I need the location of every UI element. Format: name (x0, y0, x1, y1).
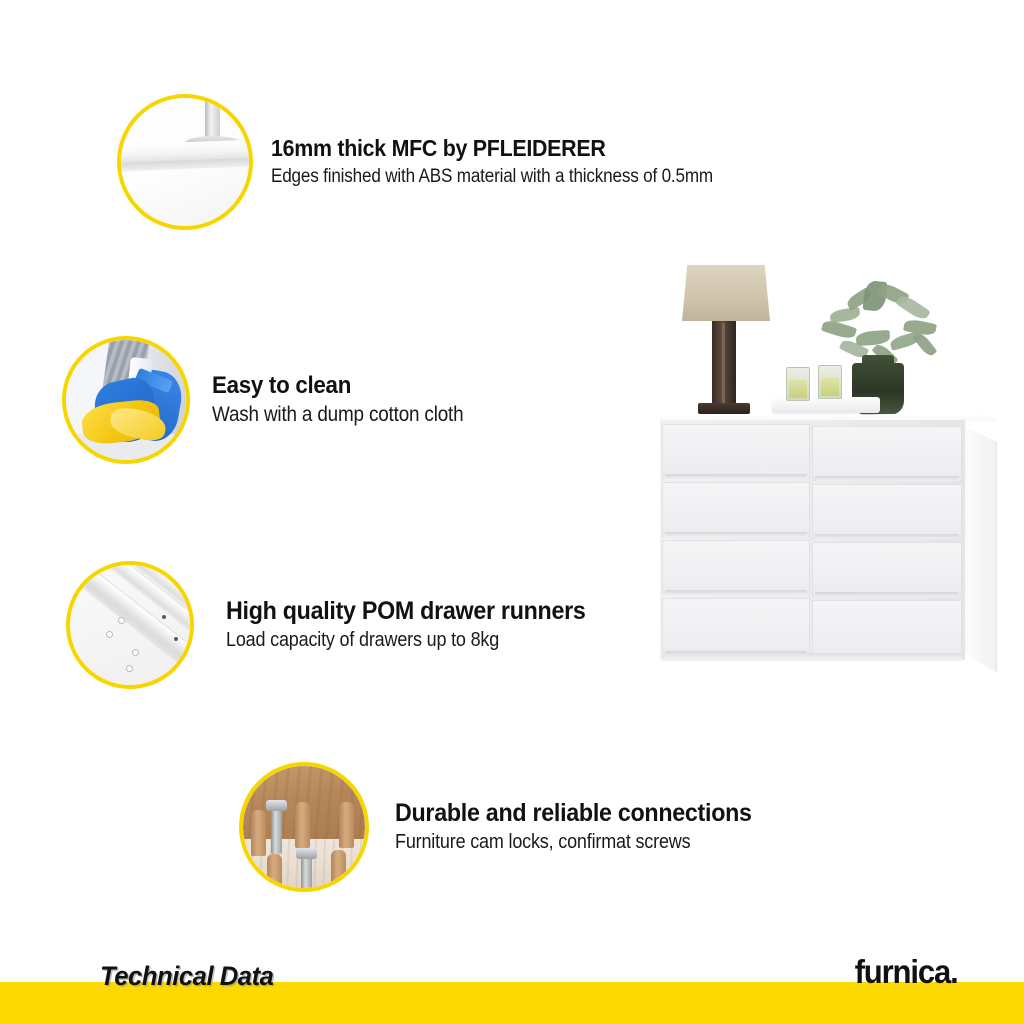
feature-text-block: High quality POM drawer runners Load cap… (194, 597, 613, 654)
dresser-carcass (660, 420, 965, 660)
drawer (662, 598, 810, 656)
glass-candle-holder (818, 365, 842, 399)
drawer (662, 424, 810, 479)
feature-subtitle: Edges finished with ABS material with a … (271, 165, 713, 189)
feature-title: High quality POM drawer runners (226, 597, 586, 626)
dresser-plinth (662, 653, 962, 661)
footer-technical-data-label: Technical Data (100, 961, 273, 992)
glass-candle-holder (786, 367, 810, 401)
feature-subtitle: Furniture cam locks, confirmat screws (395, 830, 740, 855)
feature-subtitle: Load capacity of drawers up to 8kg (226, 628, 574, 653)
dresser-side-panel (965, 427, 997, 673)
feature-subtitle: Wash with a dump cotton cloth (212, 402, 463, 428)
drawer-runners-photo (66, 561, 194, 689)
brand-logo-furnica: furnica. (855, 953, 958, 991)
drawer (812, 426, 962, 481)
feature-text-block: Easy to clean Wash with a dump cotton cl… (190, 372, 491, 429)
product-image-chest-of-drawers (640, 255, 1000, 685)
drawer (812, 600, 962, 658)
drawer (812, 484, 962, 539)
drawer (662, 540, 810, 595)
feature-item-mfc-thickness: 16mm thick MFC by PFLEIDERER Edges finis… (117, 94, 762, 230)
feature-item-connections: Durable and reliable connections Furnitu… (239, 762, 779, 892)
feature-item-drawer-runners: High quality POM drawer runners Load cap… (66, 561, 613, 689)
feature-text-block: 16mm thick MFC by PFLEIDERER Edges finis… (253, 135, 762, 188)
furniture-edge-photo (117, 94, 253, 230)
feature-title: Durable and reliable connections (395, 799, 752, 828)
feature-title: Easy to clean (212, 372, 472, 400)
feature-text-block: Durable and reliable connections Furnitu… (369, 799, 779, 856)
feature-item-easy-to-clean: Easy to clean Wash with a dump cotton cl… (62, 336, 491, 464)
dowels-and-cam-screws-photo (239, 762, 369, 892)
feature-title: 16mm thick MFC by PFLEIDERER (271, 135, 728, 161)
drawer (662, 482, 810, 537)
gloved-hands-cleaning-photo (62, 336, 190, 464)
drawer (812, 542, 962, 597)
